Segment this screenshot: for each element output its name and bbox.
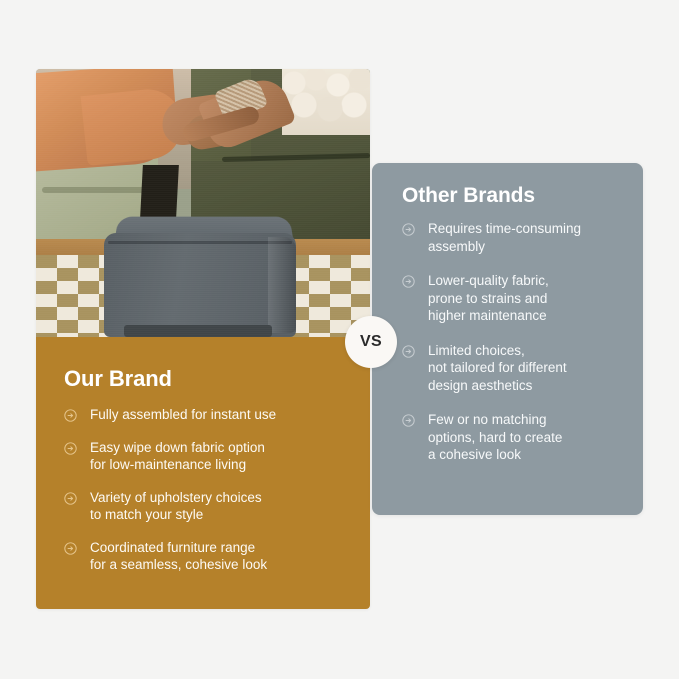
list-item: Variety of upholstery choices to match y… [64, 489, 346, 524]
photo-ottoman-seam [108, 241, 292, 244]
circle-arrow-right-icon [402, 345, 415, 358]
list-item-label: Few or no matching options, hard to crea… [428, 411, 562, 464]
list-item: Easy wipe down fabric option for low-mai… [64, 439, 346, 474]
list-item-label: Lower-quality fabric, prone to strains a… [428, 272, 549, 325]
circle-arrow-right-icon [64, 409, 77, 422]
list-item-label: Coordinated furniture range for a seamle… [90, 539, 267, 574]
circle-arrow-right-icon [402, 223, 415, 236]
list-item-label: Limited choices, not tailored for differ… [428, 342, 567, 395]
circle-arrow-right-icon [402, 414, 415, 427]
vs-label: VS [360, 333, 382, 351]
list-item: Coordinated furniture range for a seamle… [64, 539, 346, 574]
other-brands-card: Other Brands Requires time-consuming ass… [372, 163, 643, 515]
list-item-label: Variety of upholstery choices to match y… [90, 489, 262, 524]
list-item-label: Requires time-consuming assembly [428, 220, 581, 255]
list-item: Limited choices, not tailored for differ… [402, 342, 621, 395]
our-brand-panel: Our Brand Fully assembled for instant us… [36, 337, 370, 609]
other-brands-bullet-list: Requires time-consuming assembly Lower-q… [402, 220, 621, 464]
vs-badge: VS [345, 316, 397, 368]
circle-arrow-right-icon [64, 542, 77, 555]
our-brand-card: Our Brand Fully assembled for instant us… [36, 69, 370, 609]
list-item-label: Easy wipe down fabric option for low-mai… [90, 439, 265, 474]
photo-ottoman-edge [268, 237, 296, 333]
photo-ottoman-base [124, 325, 272, 337]
other-brands-title: Other Brands [402, 185, 621, 206]
photo-sage-sofa-fold [42, 187, 150, 193]
list-item: Requires time-consuming assembly [402, 220, 621, 255]
list-item: Fully assembled for instant use [64, 406, 346, 424]
product-photo [36, 69, 370, 337]
our-brand-title: Our Brand [64, 368, 346, 390]
list-item: Lower-quality fabric, prone to strains a… [402, 272, 621, 325]
circle-arrow-right-icon [64, 442, 77, 455]
circle-arrow-right-icon [64, 492, 77, 505]
circle-arrow-right-icon [402, 275, 415, 288]
list-item: Few or no matching options, hard to crea… [402, 411, 621, 464]
list-item-label: Fully assembled for instant use [90, 406, 276, 424]
our-brand-bullet-list: Fully assembled for instant use Easy wip… [64, 406, 346, 574]
comparison-infographic: Our Brand Fully assembled for instant us… [0, 0, 679, 679]
photo-knit-cushion [282, 69, 370, 135]
